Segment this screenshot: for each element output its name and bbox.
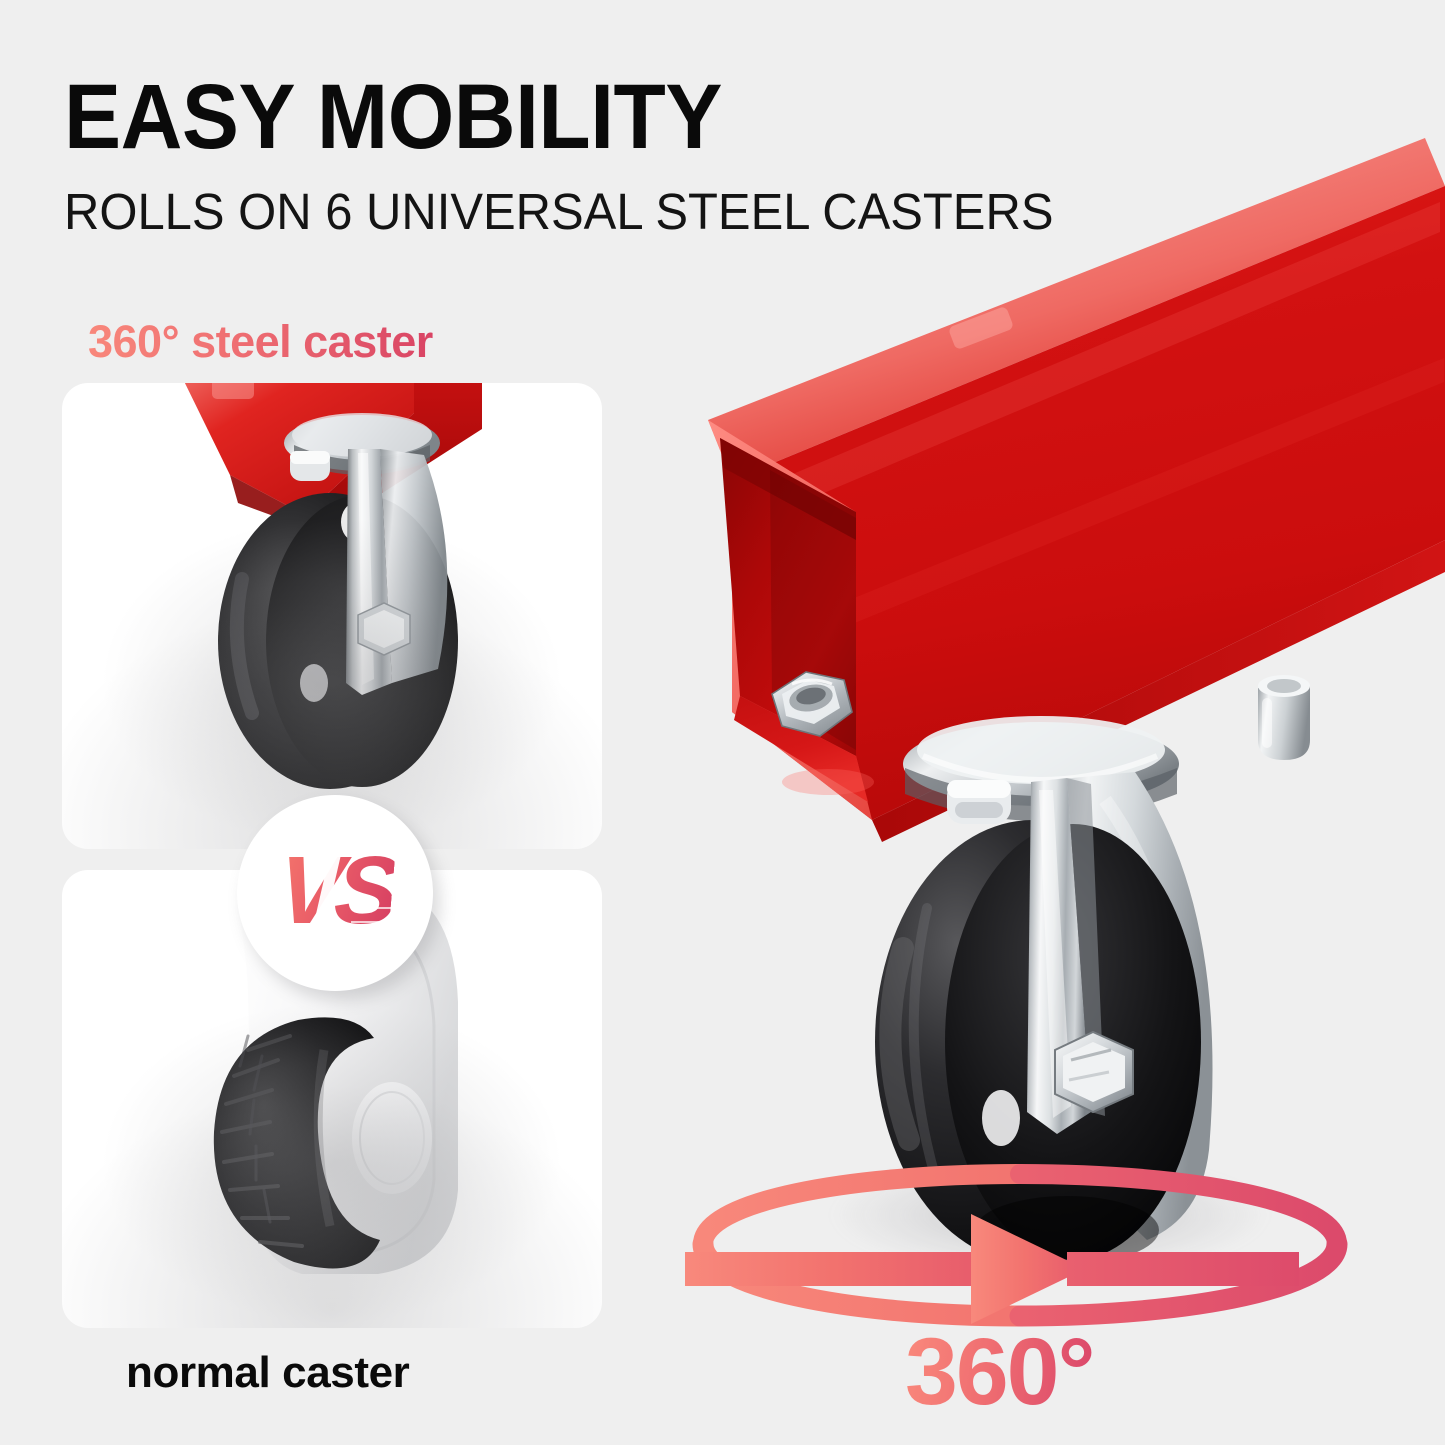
- vs-streak: [353, 837, 393, 839]
- chrome-stud: [947, 780, 1011, 824]
- vs-streak: [281, 945, 311, 947]
- rotation-arrow-icon: [675, 1160, 1365, 1370]
- vs-streak: [275, 841, 309, 843]
- card-vignette: [62, 383, 602, 849]
- hex-bolt: [1055, 1032, 1133, 1112]
- vs-streak: [351, 921, 387, 923]
- steel-caster-card: [62, 383, 602, 849]
- vs-streak: [359, 907, 405, 909]
- product-hero-illustration: [620, 120, 1445, 1350]
- vs-badge: VS: [237, 795, 433, 991]
- vs-streak: [345, 825, 397, 827]
- steel-caster-label: 360° steel caster: [88, 316, 433, 368]
- product-feature-image: EASY MOBILITY ROLLS ON 6 UNIVERSAL STEEL…: [0, 0, 1445, 1445]
- vs-streak: [267, 829, 311, 831]
- normal-caster-label: normal caster: [126, 1348, 409, 1398]
